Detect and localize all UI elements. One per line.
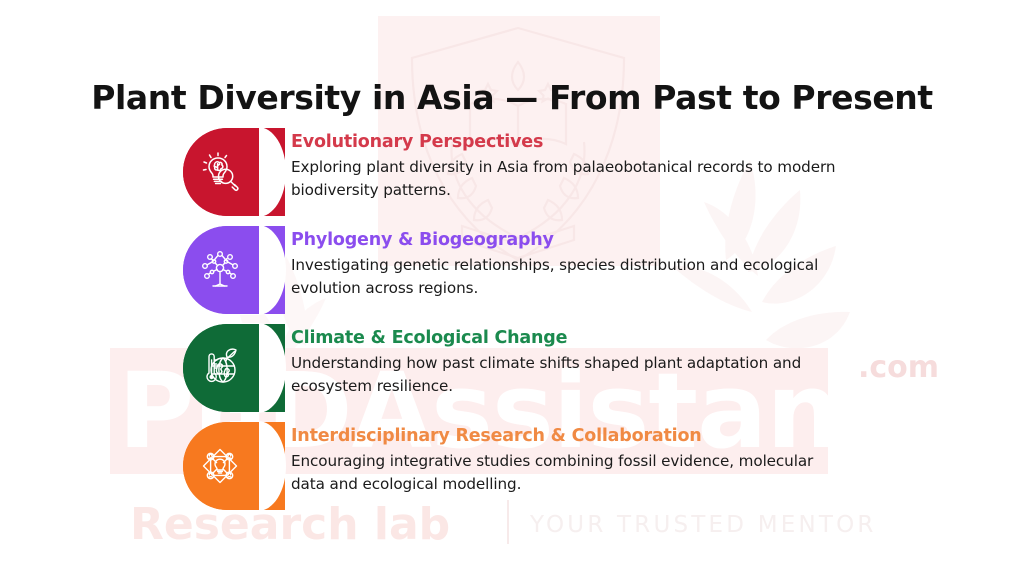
card-description: Encouraging integrative studies combinin… <box>291 450 836 495</box>
card-heading: Evolutionary Perspectives <box>291 130 851 154</box>
slide-content: Plant Diversity in Asia — From Past to P… <box>0 0 1024 576</box>
list-item[interactable]: Evolutionary Perspectives Exploring plan… <box>0 128 1024 216</box>
card-list: Evolutionary Perspectives Exploring plan… <box>0 128 1024 520</box>
page-title: Plant Diversity in Asia — From Past to P… <box>0 76 1024 120</box>
card-description: Investigating genetic relationships, spe… <box>291 254 836 299</box>
card-text: Phylogeny & Biogeography Investigating g… <box>291 228 851 299</box>
globe-thermometer-leaf-icon <box>198 346 242 390</box>
card-description: Understanding how past climate shifts sh… <box>291 352 836 397</box>
card-text: Interdisciplinary Research & Collaborati… <box>291 424 851 495</box>
lightbulb-collaboration-network-icon <box>198 444 242 488</box>
card-heading: Interdisciplinary Research & Collaborati… <box>291 424 851 448</box>
card-text: Climate & Ecological Change Understandin… <box>291 326 851 397</box>
list-item[interactable]: Interdisciplinary Research & Collaborati… <box>0 422 1024 510</box>
list-item[interactable]: Climate & Ecological Change Understandin… <box>0 324 1024 412</box>
card-heading: Climate & Ecological Change <box>291 326 851 350</box>
lightbulb-brain-magnifier-icon <box>198 150 242 194</box>
card-text: Evolutionary Perspectives Exploring plan… <box>291 130 851 201</box>
card-description: Exploring plant diversity in Asia from p… <box>291 156 836 201</box>
molecular-network-tree-icon <box>198 248 242 292</box>
infographic-slide: PhDAssistance .com Research lab YOUR TRU… <box>0 0 1024 576</box>
card-heading: Phylogeny & Biogeography <box>291 228 851 252</box>
list-item[interactable]: Phylogeny & Biogeography Investigating g… <box>0 226 1024 314</box>
